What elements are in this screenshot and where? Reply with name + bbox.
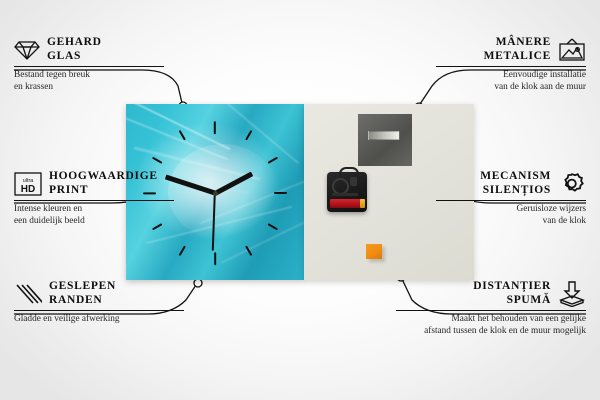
callout-distantier-spuma: DISTANȚIER SPUMĂ Maakt het behouden van … bbox=[396, 280, 586, 337]
clock-tick bbox=[214, 252, 216, 265]
callout-title-line2: RANDEN bbox=[49, 294, 102, 306]
clock-tick bbox=[152, 156, 163, 163]
foam-spacer bbox=[366, 244, 382, 259]
clock-tick bbox=[274, 192, 287, 194]
callout-title-line2: PRINT bbox=[49, 184, 88, 196]
callout-sub-line2: van de klok bbox=[543, 216, 586, 226]
product-photo bbox=[126, 104, 474, 280]
callout-title-line1: DISTANȚIER bbox=[473, 280, 551, 292]
callout-title-line2: SILENȚIOS bbox=[483, 184, 551, 196]
clock-tick bbox=[267, 156, 278, 163]
callout-hoogwaardige-print: ultra HD HOOGWAARDIGE PRINT Intense kleu… bbox=[14, 170, 174, 227]
clock-second-hand bbox=[212, 193, 216, 251]
callout-title-line1: MÂNERE bbox=[496, 36, 551, 48]
callout-title-line2: METALICE bbox=[484, 50, 551, 62]
clock-tick bbox=[245, 130, 252, 141]
callout-sub-line1: Bestand tegen breuk bbox=[14, 70, 90, 80]
callout-sub-line2: van de klok aan de muur bbox=[494, 82, 586, 92]
clock-mechanism bbox=[327, 172, 367, 212]
callout-sub-line2: en krassen bbox=[14, 82, 53, 92]
clock-tick bbox=[214, 121, 216, 134]
callout-sub-line1: Gladde en veilige afwerking bbox=[14, 314, 120, 324]
clock-hour-hand bbox=[214, 171, 253, 195]
callout-manere-metalice: MÂNERE METALICE Eenvoudige installatie v… bbox=[436, 36, 586, 93]
ultra-hd-icon: ultra HD bbox=[14, 172, 42, 196]
callout-title-line1: MECANISM bbox=[480, 170, 551, 182]
callout-title-line1: GESLEPEN bbox=[49, 280, 116, 292]
callout-sub-line2: een duidelijk beeld bbox=[14, 216, 85, 226]
infographic-canvas: GEHARD GLAS Bestand tegen breuk en krass… bbox=[0, 0, 600, 400]
callout-sub-line2: afstand tussen de klok en de muur mogeli… bbox=[424, 326, 586, 336]
callout-sub-line1: Eenvoudige installatie bbox=[503, 70, 586, 80]
callout-rule bbox=[436, 200, 586, 201]
callout-rule bbox=[14, 200, 174, 201]
picture-frame-icon bbox=[558, 38, 586, 62]
foam-spacer-icon bbox=[558, 281, 586, 307]
callout-sub-line1: Maakt het behouden van een gelijke bbox=[452, 314, 587, 324]
callout-sub-line1: Geruisloze wijzers bbox=[517, 204, 586, 214]
diamond-icon bbox=[14, 39, 40, 61]
callout-sub-line1: Intense kleuren en bbox=[14, 204, 82, 214]
clock-tick bbox=[267, 223, 278, 230]
callout-rule bbox=[14, 66, 164, 67]
beveled-edges-icon bbox=[14, 283, 42, 305]
callout-rule bbox=[14, 310, 184, 311]
clock-tick bbox=[178, 245, 185, 256]
callout-mecanism-silentios: MECANISM SILENȚIOS Geruisloze wijzers va… bbox=[436, 170, 586, 227]
callout-gehard-glas: GEHARD GLAS Bestand tegen breuk en krass… bbox=[14, 36, 164, 93]
callout-title-line1: GEHARD bbox=[47, 36, 102, 48]
battery bbox=[330, 199, 364, 208]
clock-tick bbox=[245, 245, 252, 256]
callout-title-line2: SPUMĂ bbox=[507, 294, 551, 306]
gear-icon bbox=[558, 171, 586, 197]
clock-tick bbox=[178, 130, 185, 141]
callout-title-line2: GLAS bbox=[47, 50, 81, 62]
clock-center-hub bbox=[213, 191, 218, 196]
metal-hanger-plate bbox=[358, 114, 412, 166]
callout-geslepen-randen: GESLEPEN RANDEN Gladde en veilige afwerk… bbox=[14, 280, 184, 326]
callout-rule bbox=[396, 310, 586, 311]
svg-text:HD: HD bbox=[21, 184, 35, 195]
callout-rule bbox=[436, 66, 586, 67]
callout-title-line1: HOOGWAARDIGE bbox=[49, 170, 158, 182]
